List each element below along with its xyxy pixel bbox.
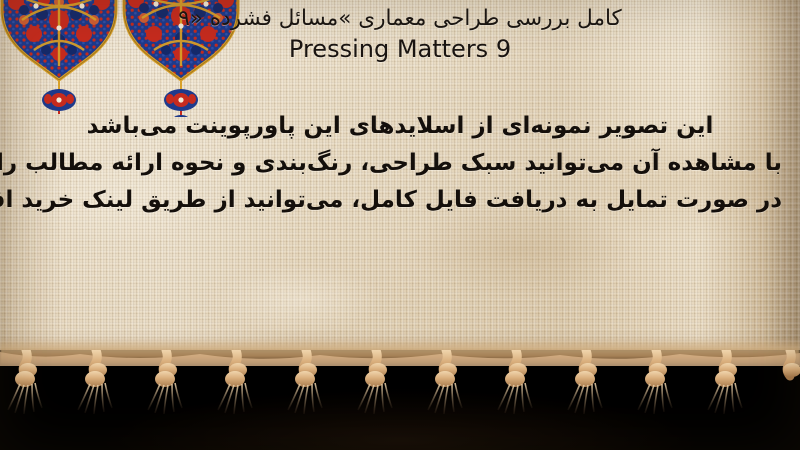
slide-canvas: کامل بررسی طراحی معماری »مسائل فشرده «۹ …	[0, 0, 800, 450]
title-persian: کامل بررسی طراحی معماری »مسائل فشرده «۹	[24, 4, 776, 34]
fringe-tassels-icon	[0, 350, 800, 450]
slide-title: کامل بررسی طراحی معماری »مسائل فشرده «۹ …	[24, 4, 776, 64]
body-line-1: این تصویر نمونه‌ای از اسلایدهای این پاور…	[18, 108, 782, 145]
slide-body-text: این تصویر نمونه‌ای از اسلایدهای این پاور…	[18, 108, 782, 219]
body-line-3: در صورت تمایل به دریافت فایل کامل، می‌تو…	[18, 182, 782, 219]
body-line-2: با مشاهده آن می‌توانید سبک طراحی، رنگ‌بن…	[18, 145, 782, 182]
title-english: Pressing Matters 9	[24, 34, 776, 64]
carpet-fringe	[0, 350, 800, 450]
